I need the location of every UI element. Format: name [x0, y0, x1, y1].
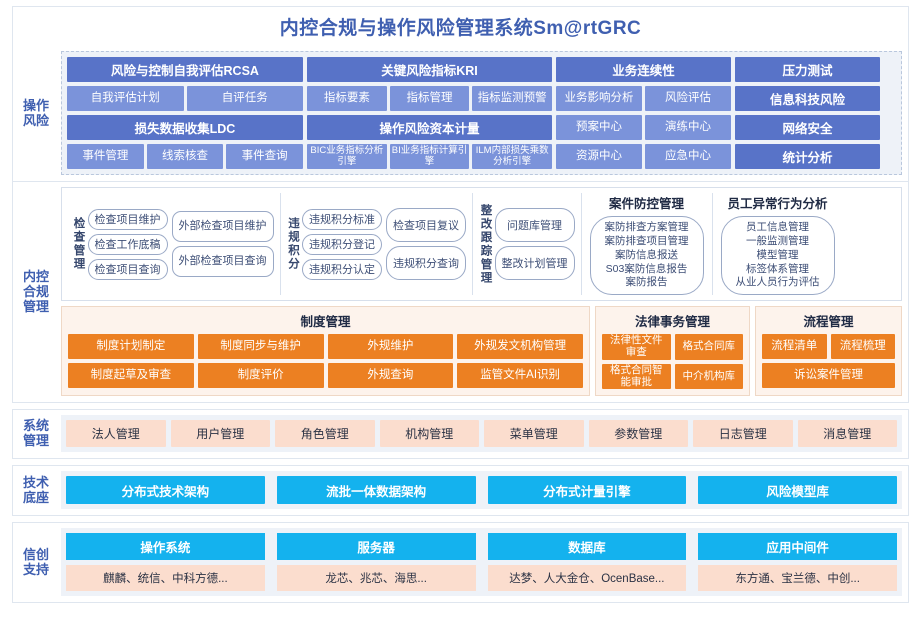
op-head-ldc[interactable]: 损失数据收集LDC [67, 115, 303, 140]
section-xinchuang-support: 信创 支持 操作系统 麒麟、统信、中科方德... 服务器 龙芯、兆芯、海思...… [12, 522, 909, 603]
tech-base-body: 分布式技术架构 流批一体数据架构 分布式计量引擎 风险模型库 [59, 466, 908, 515]
xc-head-operating-system[interactable]: 操作系统 [66, 533, 265, 560]
tech-btn-stream-batch-data-architecture[interactable]: 流批一体数据架构 [277, 476, 476, 504]
policy-btn-draft-review[interactable]: 制度起草及审查 [68, 363, 194, 388]
title-bar: 内控合规与操作风险管理系统Sm@rtGRC [12, 6, 909, 46]
orange-grid-legal: 法律性文件审查 格式合同库 格式合同智能审批 中介机构库 [602, 334, 743, 389]
op-subrow-ldc: 事件管理 线索核查 事件查询 [67, 144, 303, 169]
ic-pillcol-rectification: 问题库管理 整改计划管理 [495, 208, 575, 280]
ic-list-employee-behavior[interactable]: 员工信息管理 一般监测管理 模型管理 标签体系管理 从业人员行为评估 [721, 216, 835, 295]
op-label-line2: 风险 [23, 113, 49, 128]
case-item-report[interactable]: 案防报告 [605, 276, 689, 290]
pill-inspection-item-maintain[interactable]: 检查项目维护 [88, 209, 168, 230]
pill-violation-query[interactable]: 违规积分查询 [386, 246, 466, 280]
case-item-s03-report[interactable]: S03案防信息报告 [605, 263, 689, 277]
pill-violation-register[interactable]: 违规积分登记 [302, 234, 382, 255]
section-label-operational-risk: 操作 风险 [13, 46, 59, 181]
internal-control-orange-row: 制度管理 制度计划制定 制度同步与维护 外规维护 外规发文机构管理 制度起草及审… [61, 306, 902, 396]
employee-item-model-management[interactable]: 模型管理 [736, 249, 820, 263]
employee-item-info-management[interactable]: 员工信息管理 [736, 221, 820, 235]
op-head-business-continuity[interactable]: 业务连续性 [556, 57, 731, 82]
op-item-indicator-management[interactable]: 指标管理 [390, 86, 470, 111]
sys-btn-parameter[interactable]: 参数管理 [589, 420, 689, 447]
system-management-body: 法人管理 用户管理 角色管理 机构管理 菜单管理 参数管理 日志管理 消息管理 [59, 410, 908, 458]
op-column-stress-test: 压力测试 信息科技风险 网络安全 统计分析 [735, 57, 880, 169]
op-item-indicator-monitoring-alert[interactable]: 指标监测预警 [472, 86, 552, 111]
sys-label-line1: 系统 [23, 418, 49, 433]
legal-btn-agency-library[interactable]: 中介机构库 [675, 364, 744, 390]
policy-btn-external-query[interactable]: 外规查询 [328, 363, 454, 388]
op-item-emergency-center[interactable]: 应急中心 [645, 144, 731, 169]
op-item-it-risk[interactable]: 信息科技风险 [735, 86, 880, 111]
sys-btn-organization[interactable]: 机构管理 [380, 420, 480, 447]
op-head-stress-test[interactable]: 压力测试 [735, 57, 880, 82]
pill-issue-library[interactable]: 问题库管理 [495, 208, 575, 242]
policy-btn-sync-maintain[interactable]: 制度同步与维护 [198, 334, 324, 359]
pill-rectification-plan[interactable]: 整改计划管理 [495, 246, 575, 280]
sys-btn-message[interactable]: 消息管理 [798, 420, 898, 447]
op-item-self-assessment-task[interactable]: 自评任务 [187, 86, 304, 111]
tech-btn-distributed-measurement-engine[interactable]: 分布式计量引擎 [488, 476, 687, 504]
op-column-kri: 关键风险指标KRI 指标要素 指标管理 指标监测预警 操作风险资本计量 BIC业… [307, 57, 552, 169]
op-label-line1: 操作 [23, 98, 49, 113]
pill-external-inspection-maintain[interactable]: 外部检查项目维护 [172, 211, 274, 242]
op-item-clue-verification[interactable]: 线索核查 [147, 144, 224, 169]
xc-sub-operating-system[interactable]: 麒麟、统信、中科方德... [66, 565, 265, 591]
ic-list-case-prevention[interactable]: 案防排查方案管理 案防排查项目管理 案防信息报送 S03案防信息报告 案防报告 [590, 216, 704, 295]
xc-label-line1: 信创 [23, 547, 49, 562]
op-item-bic-engine[interactable]: BIC业务指标分析引擎 [307, 144, 387, 169]
op-subrow-bc-2: 预案中心 演练中心 [556, 115, 731, 140]
op-item-network-security[interactable]: 网络安全 [735, 115, 880, 140]
op-item-bi-engine[interactable]: BI业务指标计算引擎 [390, 144, 470, 169]
xc-label-line2: 支持 [23, 562, 49, 577]
sys-btn-menu[interactable]: 菜单管理 [484, 420, 584, 447]
orange-title-legal-affairs: 法律事务管理 [602, 311, 743, 330]
orange-title-process-management: 流程管理 [762, 311, 895, 330]
ic-card-case-prevention: 案件防控管理 案防排查方案管理 案防排查项目管理 案防信息报送 S03案防信息报… [582, 193, 713, 295]
op-subrow-bc-3: 资源中心 应急中心 [556, 144, 731, 169]
operational-risk-grid: 风险与控制自我评估RCSA 自我评估计划 自评任务 损失数据收集LDC 事件管理… [67, 57, 896, 169]
ic-group-violation-points: 违规积分 违规积分标准 违规积分登记 违规积分认定 检查项目复议 违规积分查询 [281, 193, 474, 295]
process-btn-combing[interactable]: 流程梳理 [831, 334, 896, 359]
xc-column-server: 服务器 龙芯、兆芯、海思... [277, 533, 476, 591]
sys-label-line2: 管理 [23, 433, 49, 448]
pill-external-inspection-query[interactable]: 外部检查项目查询 [172, 246, 274, 277]
policy-btn-regulatory-ai-recognition[interactable]: 监管文件AI识别 [457, 363, 583, 388]
orange-title-policy-management: 制度管理 [68, 311, 583, 330]
op-subrow-capital: BIC业务指标分析引擎 BI业务指标计算引擎 ILM内部损失乘数分析引擎 [307, 144, 552, 169]
ic-card-title-case-prevention: 案件防控管理 [609, 193, 684, 212]
op-item-risk-assessment[interactable]: 风险评估 [645, 86, 731, 111]
xinchuang-panel: 操作系统 麒麟、统信、中科方德... 服务器 龙芯、兆芯、海思... 数据库 达… [61, 528, 902, 596]
ic-group-label-violation: 违规积分 [287, 217, 299, 271]
legal-btn-standard-contract-library[interactable]: 格式合同库 [675, 334, 744, 360]
section-label-system-management: 系统 管理 [13, 410, 59, 458]
op-item-self-assessment-plan[interactable]: 自我评估计划 [67, 86, 184, 111]
pill-violation-standard[interactable]: 违规积分标准 [302, 209, 382, 230]
pill-violation-confirm[interactable]: 违规积分认定 [302, 259, 382, 280]
op-item-event-query[interactable]: 事件查询 [226, 144, 303, 169]
employee-item-behavior-assessment[interactable]: 从业人员行为评估 [736, 276, 820, 290]
sys-btn-legal-entity[interactable]: 法人管理 [66, 420, 166, 447]
sys-btn-user[interactable]: 用户管理 [171, 420, 271, 447]
ic-pillcol-violation-2: 检查项目复议 违规积分查询 [386, 208, 466, 280]
ic-pillcol-inspection-1: 检查项目维护 检查工作底稿 检查项目查询 [88, 209, 168, 280]
section-label-xinchuang: 信创 支持 [13, 523, 59, 602]
sys-btn-log[interactable]: 日志管理 [693, 420, 793, 447]
employee-item-tag-system[interactable]: 标签体系管理 [736, 263, 820, 277]
tech-btn-distributed-architecture[interactable]: 分布式技术架构 [66, 476, 265, 504]
xc-sub-middleware[interactable]: 东方通、宝兰德、中创... [698, 565, 897, 591]
sys-btn-role[interactable]: 角色管理 [275, 420, 375, 447]
ic-group-rectification-tracking: 整改跟踪管理 问题库管理 整改计划管理 [473, 193, 582, 295]
section-tech-base: 技术 底座 分布式技术架构 流批一体数据架构 分布式计量引擎 风险模型库 [12, 465, 909, 516]
xc-head-database[interactable]: 数据库 [488, 533, 687, 560]
process-btn-litigation-case-management[interactable]: 诉讼案件管理 [762, 363, 895, 388]
op-item-plan-center[interactable]: 预案中心 [556, 115, 642, 140]
op-subrow-bc-1: 业务影响分析 风险评估 [556, 86, 731, 111]
xc-column-database: 数据库 达梦、人大金仓、OcenBase... [488, 533, 687, 591]
internal-control-body: 检查管理 检查项目维护 检查工作底稿 检查项目查询 外部检查项目维护 外部检查项… [59, 182, 908, 402]
op-head-capital-measurement[interactable]: 操作风险资本计量 [307, 115, 552, 140]
case-item-plan-management[interactable]: 案防排查方案管理 [605, 221, 689, 235]
page-title: 内控合规与操作风险管理系统Sm@rtGRC [280, 13, 642, 40]
page-root: 内控合规与操作风险管理系统Sm@rtGRC 操作 风险 风险与控制自我评估RCS… [0, 0, 921, 640]
orange-grid-process: 流程清单 流程梳理 诉讼案件管理 [762, 334, 895, 388]
policy-btn-external-maintain[interactable]: 外规维护 [328, 334, 454, 359]
section-system-management: 系统 管理 法人管理 用户管理 角色管理 机构管理 菜单管理 参数管理 日志管理… [12, 409, 909, 459]
ic-pillcol-violation-1: 违规积分标准 违规积分登记 违规积分认定 [302, 209, 382, 280]
op-head-kri[interactable]: 关键风险指标KRI [307, 57, 552, 82]
ic-group-label-rectification: 整改跟踪管理 [479, 204, 491, 285]
op-subrow-rcsa: 自我评估计划 自评任务 [67, 86, 303, 111]
tech-btn-risk-model-library[interactable]: 风险模型库 [698, 476, 897, 504]
xc-column-os: 操作系统 麒麟、统信、中科方德... [66, 533, 265, 591]
orange-panel-policy-management: 制度管理 制度计划制定 制度同步与维护 外规维护 外规发文机构管理 制度起草及审… [61, 306, 590, 396]
pill-inspection-workpaper[interactable]: 检查工作底稿 [88, 234, 168, 255]
ic-group-inspection-management: 检查管理 检查项目维护 检查工作底稿 检查项目查询 外部检查项目维护 外部检查项… [66, 193, 281, 295]
xc-sub-server[interactable]: 龙芯、兆芯、海思... [277, 565, 476, 591]
xc-sub-database[interactable]: 达梦、人大金仓、OcenBase... [488, 565, 687, 591]
pill-inspection-item-query[interactable]: 检查项目查询 [88, 259, 168, 280]
legal-btn-document-review[interactable]: 法律性文件审查 [602, 334, 671, 360]
ic-label-line2: 合规 [23, 284, 49, 299]
op-column-rcsa: 风险与控制自我评估RCSA 自我评估计划 自评任务 损失数据收集LDC 事件管理… [67, 57, 303, 169]
op-head-rcsa[interactable]: 风险与控制自我评估RCSA [67, 57, 303, 82]
policy-btn-external-issuing-org[interactable]: 外规发文机构管理 [457, 334, 583, 359]
pill-inspection-item-review[interactable]: 检查项目复议 [386, 208, 466, 242]
section-label-internal-control: 内控 合规 管理 [13, 182, 59, 402]
op-item-resource-center[interactable]: 资源中心 [556, 144, 642, 169]
orange-panel-legal-affairs: 法律事务管理 法律性文件审查 格式合同库 格式合同智能审批 中介机构库 [595, 306, 750, 396]
operational-risk-body: 风险与控制自我评估RCSA 自我评估计划 自评任务 损失数据收集LDC 事件管理… [59, 46, 908, 181]
case-item-project-management[interactable]: 案防排查项目管理 [605, 235, 689, 249]
case-item-info-submit[interactable]: 案防信息报送 [605, 249, 689, 263]
section-internal-control: 内控 合规 管理 检查管理 检查项目维护 检查工作底稿 检查项目查询 外部检查项… [12, 182, 909, 403]
op-item-event-management[interactable]: 事件管理 [67, 144, 144, 169]
tech-base-panel: 分布式技术架构 流批一体数据架构 分布式计量引擎 风险模型库 [61, 471, 902, 509]
ic-group-label-inspection: 检查管理 [72, 217, 84, 271]
op-item-indicator-elements[interactable]: 指标要素 [307, 86, 387, 111]
tech-label-line2: 底座 [23, 490, 49, 505]
op-item-ilm-engine[interactable]: ILM内部损失乘数分析引擎 [472, 144, 552, 169]
xc-head-server[interactable]: 服务器 [277, 533, 476, 560]
orange-panel-process-management: 流程管理 流程清单 流程梳理 诉讼案件管理 [755, 306, 902, 396]
ic-card-title-employee-behavior: 员工异常行为分析 [727, 193, 827, 212]
policy-btn-evaluation[interactable]: 制度评价 [198, 363, 324, 388]
internal-control-top-panel: 检查管理 检查项目维护 检查工作底稿 检查项目查询 外部检查项目维护 外部检查项… [61, 187, 902, 301]
section-label-tech-base: 技术 底座 [13, 466, 59, 515]
xinchuang-body: 操作系统 麒麟、统信、中科方德... 服务器 龙芯、兆芯、海思... 数据库 达… [59, 523, 908, 602]
xc-head-middleware[interactable]: 应用中间件 [698, 533, 897, 560]
employee-item-general-monitoring[interactable]: 一般监测管理 [736, 235, 820, 249]
operational-risk-panel: 风险与控制自我评估RCSA 自我评估计划 自评任务 损失数据收集LDC 事件管理… [61, 51, 902, 175]
op-item-drill-center[interactable]: 演练中心 [645, 115, 731, 140]
legal-btn-contract-smart-approval[interactable]: 格式合同智能审批 [602, 364, 671, 390]
xc-column-middleware: 应用中间件 东方通、宝兰德、中创... [698, 533, 897, 591]
ic-label-line1: 内控 [23, 269, 49, 284]
orange-grid-policy: 制度计划制定 制度同步与维护 外规维护 外规发文机构管理 制度起草及审查 制度评… [68, 334, 583, 388]
ic-card-employee-behavior: 员工异常行为分析 员工信息管理 一般监测管理 模型管理 标签体系管理 从业人员行… [713, 193, 843, 295]
system-management-panel: 法人管理 用户管理 角色管理 机构管理 菜单管理 参数管理 日志管理 消息管理 [61, 415, 902, 452]
section-operational-risk: 操作 风险 风险与控制自我评估RCSA 自我评估计划 自评任务 损失数据收集LD… [12, 46, 909, 182]
process-btn-list[interactable]: 流程清单 [762, 334, 827, 359]
op-item-statistical-analysis[interactable]: 统计分析 [735, 144, 880, 169]
tech-label-line1: 技术 [23, 475, 49, 490]
op-subrow-kri: 指标要素 指标管理 指标监测预警 [307, 86, 552, 111]
op-item-business-impact-analysis[interactable]: 业务影响分析 [556, 86, 642, 111]
policy-btn-plan-formulation[interactable]: 制度计划制定 [68, 334, 194, 359]
ic-pillcol-inspection-2: 外部检查项目维护 外部检查项目查询 [172, 211, 274, 277]
ic-label-line3: 管理 [23, 299, 49, 314]
op-column-business-continuity: 业务连续性 业务影响分析 风险评估 预案中心 演练中心 资源中心 应急中心 [556, 57, 731, 169]
